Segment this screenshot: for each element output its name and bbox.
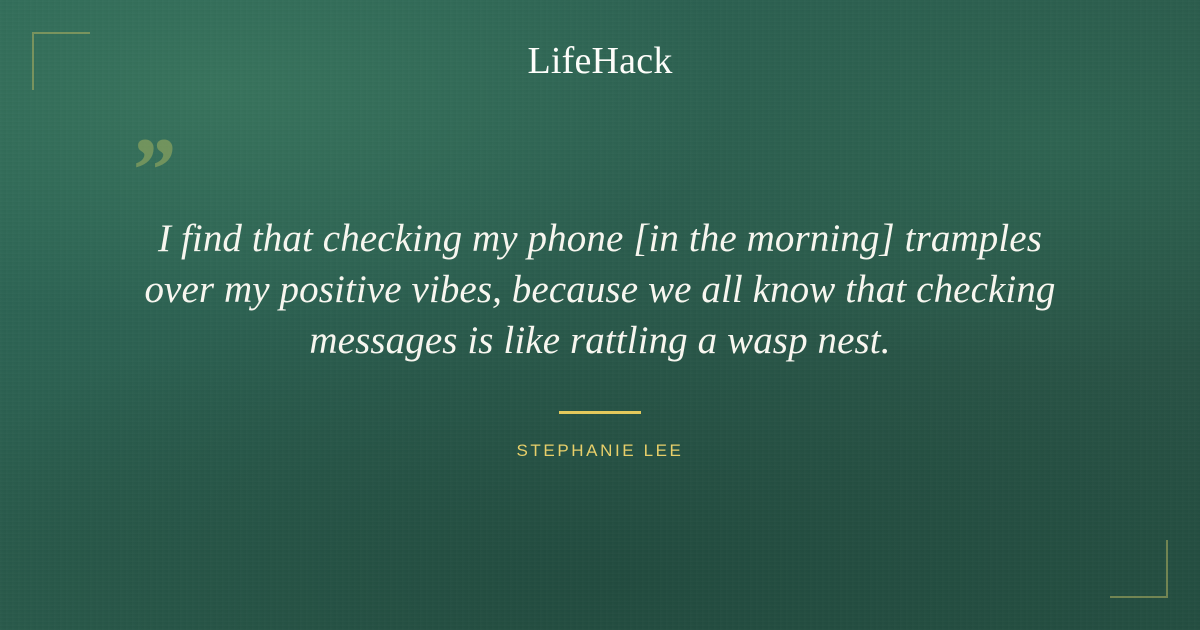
quote-line: over my positive vibes, because we all k… [100,264,1100,315]
attribution-author: STEPHANIE LEE [0,440,1200,462]
quote-line: I find that checking my phone [in the mo… [100,213,1100,264]
attribution-divider [559,411,641,414]
quote-card: LifeHack ” I find that checking my phone… [0,0,1200,630]
corner-bracket-bottom-right-icon [1110,540,1168,598]
quote-mark-icon: ” [128,124,174,216]
quote-line: messages is like rattling a wasp nest. [100,315,1100,366]
brand-logo: LifeHack [0,39,1200,83]
quote-text: I find that checking my phone [in the mo… [100,213,1100,366]
